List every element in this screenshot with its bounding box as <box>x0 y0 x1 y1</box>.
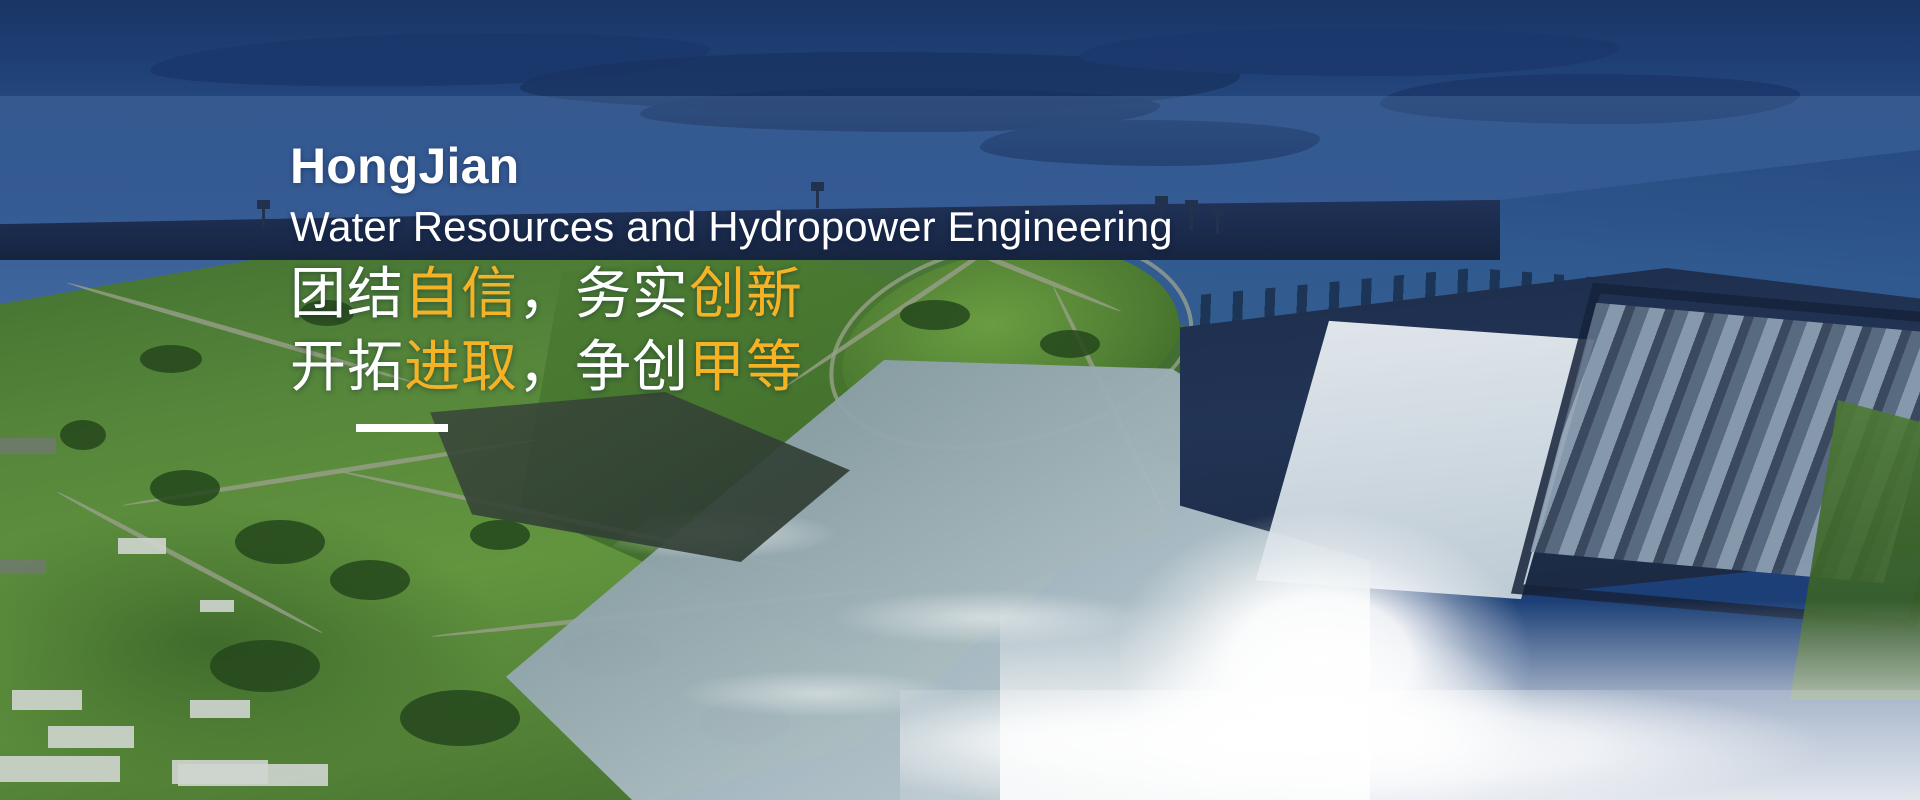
brand-title: HongJian <box>290 140 1290 193</box>
tree-cluster <box>210 640 320 692</box>
tree-cluster <box>330 560 410 600</box>
slogan-line-1: 团结自信，务实创新 <box>290 258 1290 331</box>
tree-cluster <box>60 420 106 450</box>
slogan2-highlight-2: 甲等 <box>689 335 803 398</box>
hero-banner: HongJian Water Resources and Hydropower … <box>0 0 1920 800</box>
hero-copy: HongJian Water Resources and Hydropower … <box>290 140 1290 432</box>
building <box>0 438 56 454</box>
building <box>0 756 120 782</box>
building <box>200 600 234 612</box>
tree-cluster <box>470 520 530 550</box>
building <box>12 690 82 710</box>
brand-subtitle: Water Resources and Hydropower Engineeri… <box>290 203 1290 250</box>
tree-cluster <box>150 470 220 506</box>
tree-cluster <box>140 345 202 373</box>
building <box>190 700 250 718</box>
slogan-line-2: 开拓进取，争创甲等 <box>290 331 1290 404</box>
tree-cluster <box>400 690 520 746</box>
pylon-icon <box>262 200 265 226</box>
slogan2-highlight-1: 进取 <box>404 335 518 398</box>
slogan2-segment-1: 开拓 <box>290 335 404 398</box>
building <box>0 560 46 574</box>
accent-rule <box>356 424 448 432</box>
slogan1-highlight-2: 创新 <box>689 262 803 325</box>
splash-base <box>900 690 1920 800</box>
building <box>118 538 166 554</box>
building <box>178 764 328 786</box>
slogan1-segment-2: ，务实 <box>518 262 689 325</box>
building <box>48 726 134 748</box>
slogan2-segment-2: ，争创 <box>518 335 689 398</box>
tree-cluster <box>235 520 325 564</box>
slogan1-highlight-1: 自信 <box>404 262 518 325</box>
slogan1-segment-1: 团结 <box>290 262 404 325</box>
